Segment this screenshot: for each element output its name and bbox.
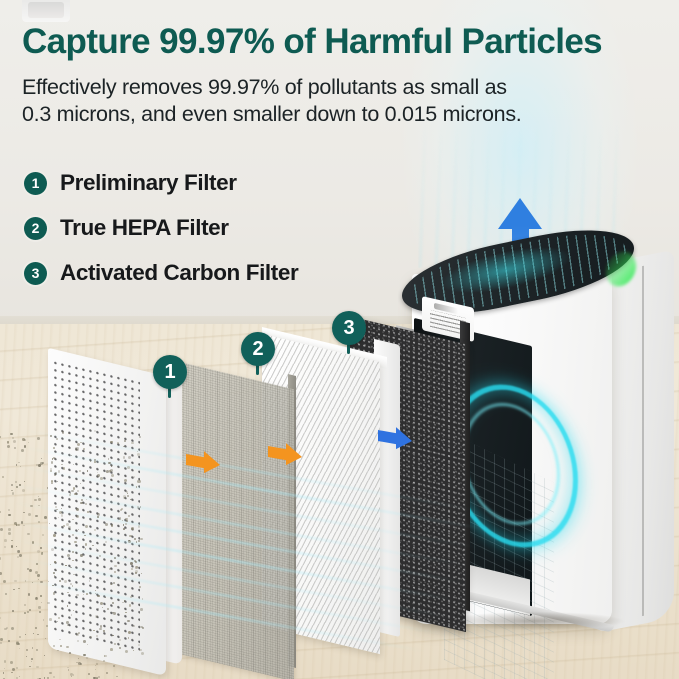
- dust-particle: [76, 537, 78, 539]
- dust-particle: [85, 503, 88, 506]
- subtitle-line-1: Effectively removes 99.97% of pollutants…: [22, 74, 642, 101]
- dust-particle: [139, 436, 141, 438]
- dust-particle: [64, 580, 67, 583]
- dust-particle: [7, 445, 10, 448]
- dust-particle: [18, 588, 19, 589]
- dust-particle: [49, 523, 50, 524]
- dust-particle: [16, 667, 18, 669]
- dust-particle: [97, 516, 99, 518]
- dust-particle: [53, 534, 56, 537]
- dust-particle: [18, 462, 19, 463]
- dust-particle: [130, 499, 131, 500]
- dust-particle: [111, 474, 114, 477]
- dust-particle: [112, 602, 114, 604]
- dust-particle: [76, 515, 79, 518]
- arrow-head: [286, 443, 302, 468]
- dust-particle: [83, 640, 86, 643]
- dust-particle: [56, 488, 58, 490]
- dust-particle: [134, 538, 136, 540]
- dust-particle: [38, 505, 39, 506]
- dust-particle: [16, 546, 17, 547]
- dust-particle: [25, 580, 27, 582]
- dust-particle: [123, 558, 124, 559]
- dust-particle: [75, 447, 78, 450]
- dust-particle: [41, 602, 42, 603]
- dust-particle: [74, 493, 77, 496]
- purifier-seam: [642, 266, 644, 616]
- dust-particle: [93, 630, 95, 632]
- dust-particle: [66, 621, 69, 624]
- dust-particle: [83, 448, 85, 450]
- dust-particle: [96, 635, 98, 637]
- dust-particle: [57, 481, 58, 482]
- dust-particle: [36, 666, 39, 669]
- dust-particle: [12, 437, 14, 439]
- dust-particle: [106, 672, 108, 674]
- dust-particle: [66, 523, 69, 526]
- dust-particle: [70, 567, 72, 569]
- dust-particle: [24, 612, 26, 614]
- dust-particle: [139, 586, 141, 588]
- dust-particle: [37, 574, 40, 577]
- dust-particle: [19, 636, 21, 638]
- dust-particle: [7, 441, 9, 443]
- dust-particle: [100, 477, 103, 480]
- dust-particle: [80, 483, 81, 484]
- dust-particle: [8, 528, 10, 530]
- dust-particle: [21, 521, 24, 524]
- dust-particle: [133, 650, 135, 652]
- dust-particle: [117, 442, 119, 444]
- dust-particle: [78, 529, 79, 530]
- dust-particle: [12, 492, 15, 495]
- dust-particle: [8, 509, 10, 511]
- dust-particle: [8, 640, 10, 642]
- dust-particle: [40, 547, 42, 549]
- dust-particle: [37, 437, 40, 440]
- dust-particle: [88, 673, 90, 675]
- dust-particle: [0, 642, 2, 644]
- dust-particle: [46, 625, 48, 627]
- dust-particle: [69, 652, 72, 655]
- dust-particle: [94, 459, 96, 461]
- dust-particle: [4, 660, 7, 663]
- dust-particle: [66, 646, 69, 649]
- dust-particle: [61, 508, 62, 509]
- dust-particle: [51, 483, 53, 485]
- dust-particle: [124, 446, 126, 448]
- dust-particle: [72, 519, 74, 521]
- dust-particle: [83, 654, 86, 657]
- dust-particle: [109, 470, 112, 473]
- dust-particle: [58, 517, 59, 518]
- dust-particle: [131, 568, 133, 570]
- dust-particle: [128, 631, 131, 634]
- dust-particle: [122, 602, 124, 604]
- dust-particle: [38, 464, 41, 467]
- dust-particle: [78, 658, 79, 659]
- dust-particle: [2, 476, 5, 479]
- dust-particle: [68, 669, 70, 671]
- dust-particle: [47, 487, 49, 489]
- dust-particle: [59, 580, 61, 582]
- dust-particle: [3, 580, 6, 583]
- dust-particle: [76, 662, 77, 663]
- dust-particle: [37, 634, 38, 635]
- dust-particle: [0, 511, 1, 514]
- dust-particle: [119, 517, 122, 520]
- dust-particle: [137, 453, 140, 456]
- dust-particle: [128, 637, 130, 639]
- dust-particle: [67, 592, 69, 594]
- dust-particle: [95, 593, 96, 594]
- dust-particle: [84, 535, 86, 537]
- dust-particle: [124, 440, 126, 442]
- dust-particle: [14, 447, 16, 449]
- dust-particle: [32, 582, 33, 583]
- dust-particle: [98, 676, 100, 678]
- dust-particle: [87, 511, 89, 513]
- dust-particle: [114, 643, 116, 645]
- dust-particle: [23, 525, 25, 527]
- dust-particle: [109, 568, 111, 570]
- dust-particle: [29, 609, 31, 611]
- dust-particle: [139, 649, 142, 652]
- dust-particle: [99, 555, 101, 557]
- dust-particle: [100, 602, 103, 605]
- dust-particle: [4, 539, 7, 542]
- dust-particle: [128, 456, 131, 459]
- dust-particle: [32, 647, 34, 649]
- dust-particle: [128, 515, 130, 517]
- dust-particle: [78, 434, 79, 435]
- dust-particle: [138, 525, 140, 527]
- dust-particle: [68, 526, 71, 529]
- dust-particle: [138, 540, 140, 542]
- dust-particle: [105, 597, 106, 598]
- badge-preliminary-filter: 1: [153, 355, 187, 389]
- dust-particle: [140, 538, 142, 540]
- dust-particle: [28, 442, 29, 443]
- list-item-label: Preliminary Filter: [60, 170, 237, 196]
- dust-particle: [119, 647, 121, 649]
- dust-particle: [90, 461, 91, 462]
- page-subtitle: Effectively removes 99.97% of pollutants…: [22, 74, 642, 128]
- dust-particle: [68, 433, 69, 434]
- dust-particle: [127, 466, 130, 469]
- dust-particle: [8, 532, 11, 535]
- dust-particle: [31, 658, 33, 660]
- dust-particle: [70, 493, 72, 495]
- dust-particle: [140, 608, 143, 611]
- dust-particle: [61, 464, 62, 465]
- dust-particle: [58, 617, 60, 619]
- dust-particle: [72, 534, 74, 536]
- dust-particle: [129, 604, 132, 607]
- dust-particle: [90, 636, 92, 638]
- dust-particle: [5, 593, 7, 595]
- dust-particle: [110, 584, 112, 586]
- dust-particle: [83, 594, 84, 595]
- dust-particle: [41, 552, 43, 554]
- page-title: Capture 99.97% of Harmful Particles: [22, 22, 667, 62]
- dust-particle: [67, 624, 69, 626]
- dust-particle: [105, 523, 108, 526]
- dust-particle: [131, 527, 134, 530]
- filter-list: 1 Preliminary Filter 2 True HEPA Filter …: [24, 163, 298, 298]
- dust-particle: [16, 464, 18, 466]
- preliminary-filter: [174, 361, 294, 679]
- dust-particle: [77, 443, 80, 446]
- dust-particle: [63, 525, 65, 527]
- dust-particle: [35, 515, 38, 518]
- dust-particle: [49, 618, 52, 621]
- dust-particle: [103, 660, 105, 662]
- dust-particle: [120, 509, 122, 511]
- dust-particle: [20, 466, 21, 467]
- dust-particle: [50, 435, 52, 437]
- dust-particle: [8, 514, 10, 516]
- dust-particle: [60, 645, 62, 647]
- list-item-number: 2: [24, 217, 47, 240]
- badge-true-hepa-filter: 2: [241, 332, 275, 366]
- dust-particle: [35, 627, 37, 629]
- dust-particle: [50, 470, 52, 472]
- dust-particle: [19, 676, 21, 678]
- dust-particle: [122, 520, 123, 521]
- dust-particle: [55, 472, 57, 474]
- dust-particle: [31, 661, 32, 662]
- dust-particle: [113, 665, 115, 667]
- dust-particle: [42, 534, 45, 537]
- dust-particle: [86, 593, 88, 595]
- dust-particle: [53, 592, 55, 594]
- dust-particle: [95, 590, 96, 591]
- dust-particle: [123, 456, 126, 459]
- dust-particle: [58, 470, 61, 473]
- dust-particle: [27, 611, 30, 614]
- dust-particle: [56, 509, 57, 510]
- dust-particle: [14, 580, 17, 583]
- dust-particle: [124, 479, 127, 482]
- dust-particle: [3, 672, 5, 674]
- dust-particle: [0, 557, 1, 559]
- dust-particle: [10, 433, 13, 436]
- dust-particle: [53, 447, 55, 449]
- dust-particle: [22, 489, 25, 492]
- list-item: 3 Activated Carbon Filter: [24, 253, 298, 293]
- dust-particle: [17, 524, 19, 526]
- dust-particle: [97, 595, 99, 597]
- dust-particle: [53, 572, 55, 574]
- dust-particle: [114, 557, 116, 559]
- dust-particle: [23, 512, 25, 514]
- dust-particle: [26, 656, 27, 657]
- product-infographic: 1 2 3 Capture 99.97% of Harmful Particle…: [0, 0, 679, 679]
- dust-particle: [49, 672, 52, 675]
- dust-particle: [72, 585, 73, 586]
- dust-particle: [128, 540, 131, 543]
- dust-particle: [34, 499, 37, 502]
- dust-particle: [28, 593, 31, 596]
- dust-particle: [80, 442, 82, 444]
- dust-particle: [96, 663, 98, 665]
- dust-particle: [87, 644, 88, 645]
- arrow-head: [204, 451, 220, 476]
- dust-particle: [21, 449, 24, 452]
- dust-particle: [38, 498, 41, 501]
- list-item-number: 3: [24, 262, 47, 285]
- dust-particle: [11, 627, 14, 630]
- dust-particle: [36, 649, 39, 652]
- dust-particle: [99, 628, 102, 631]
- dust-particle: [24, 604, 26, 606]
- dust-particle: [36, 563, 38, 565]
- dust-particle: [117, 540, 118, 541]
- dust-particle: [35, 571, 38, 574]
- dust-particle: [24, 439, 26, 441]
- dust-particle: [12, 668, 15, 671]
- dust-particle: [116, 676, 118, 678]
- dust-particle: [119, 639, 121, 641]
- dust-particle: [142, 627, 144, 629]
- dust-particle: [112, 635, 114, 637]
- dust-particle: [72, 560, 73, 561]
- dust-particle: [52, 585, 54, 587]
- dust-particle: [73, 674, 75, 676]
- dust-particle: [96, 548, 97, 549]
- dust-particle: [17, 556, 19, 558]
- dust-particle: [19, 484, 21, 486]
- dust-particle: [11, 672, 13, 674]
- dust-particle: [79, 470, 81, 472]
- dust-particle: [108, 462, 110, 464]
- dust-particle: [0, 617, 1, 619]
- dust-particle: [95, 615, 98, 618]
- dust-particle: [114, 565, 117, 568]
- list-item-label: Activated Carbon Filter: [60, 260, 298, 286]
- dust-particle: [95, 669, 97, 671]
- dust-particle: [27, 533, 30, 536]
- dust-particle: [94, 461, 97, 464]
- dust-particle: [54, 474, 57, 477]
- prefilter-mesh: [174, 361, 294, 679]
- dust-particle: [61, 514, 63, 516]
- dust-particle: [130, 562, 133, 565]
- badge-number: 1: [153, 355, 187, 389]
- dust-particle: [59, 511, 62, 514]
- dust-particle: [51, 480, 54, 483]
- dust-particle: [50, 564, 51, 565]
- dust-particle: [71, 614, 72, 615]
- dust-particle: [135, 566, 138, 569]
- dust-particle: [107, 608, 109, 610]
- list-item-label: True HEPA Filter: [60, 215, 229, 241]
- list-item: 2 True HEPA Filter: [24, 208, 298, 248]
- dust-particle: [71, 490, 74, 493]
- dust-particle: [140, 506, 141, 507]
- dust-particle: [85, 543, 88, 546]
- dust-particle: [17, 550, 20, 553]
- dust-particle: [86, 499, 88, 501]
- dust-particle: [62, 431, 65, 434]
- dust-particle: [85, 525, 88, 528]
- dust-particle: [127, 493, 128, 494]
- dust-particle: [127, 620, 130, 623]
- dust-particle: [10, 661, 13, 664]
- dust-particle: [32, 541, 35, 544]
- dust-particle: [19, 554, 22, 557]
- dust-particle: [111, 465, 113, 467]
- dust-particle: [114, 571, 116, 573]
- dust-particle: [81, 499, 83, 501]
- dust-particle: [113, 582, 115, 584]
- dust-particle: [35, 597, 38, 600]
- dust-particle: [72, 551, 74, 553]
- dust-particle: [18, 643, 20, 645]
- dust-particle: [94, 430, 96, 432]
- dust-particle: [76, 508, 79, 511]
- arrow-head: [396, 427, 412, 452]
- dust-particle: [67, 554, 70, 557]
- dust-particle: [39, 611, 41, 613]
- dust-particle: [33, 633, 34, 634]
- dust-particle: [97, 474, 100, 477]
- dust-particle: [80, 554, 83, 557]
- dust-particle: [129, 535, 132, 538]
- dust-particle: [51, 548, 54, 551]
- dust-particle: [11, 545, 14, 548]
- dust-particle: [74, 541, 77, 544]
- dust-particle: [24, 481, 25, 482]
- dust-particle: [123, 528, 125, 530]
- dust-particle: [55, 506, 57, 508]
- dust-particle: [80, 502, 83, 505]
- dust-particle: [54, 561, 56, 563]
- dust-particle: [26, 649, 28, 651]
- dust-particle: [110, 441, 113, 444]
- dust-particle: [78, 662, 81, 665]
- dust-particle: [38, 496, 39, 497]
- list-item-number: 1: [24, 172, 47, 195]
- badge-number: 3: [332, 311, 366, 345]
- dust-particle: [15, 481, 17, 483]
- dust-particle: [71, 676, 73, 678]
- dust-particle: [41, 458, 42, 459]
- dust-particle: [56, 438, 58, 440]
- dust-particle: [59, 639, 61, 641]
- dust-particle: [38, 579, 39, 580]
- dust-particle: [76, 594, 78, 596]
- dust-particle: [131, 442, 134, 445]
- dust-particle: [28, 513, 31, 516]
- subtitle-line-2: 0.3 microns, and even smaller down to 0.…: [22, 101, 642, 128]
- dust-particle: [135, 561, 137, 563]
- dust-particle: [51, 461, 54, 464]
- list-item: 1 Preliminary Filter: [24, 163, 298, 203]
- dust-particle: [56, 570, 57, 571]
- dust-particle: [53, 676, 55, 678]
- dust-particle: [40, 595, 41, 596]
- dust-particle: [40, 581, 42, 583]
- dust-particle: [37, 550, 40, 553]
- badge-activated-carbon-filter: 3: [332, 311, 366, 345]
- dust-particle: [127, 495, 129, 497]
- dust-particle: [102, 607, 103, 608]
- dust-particle: [125, 612, 126, 613]
- dust-particle: [110, 648, 113, 651]
- dust-particle: [63, 467, 66, 470]
